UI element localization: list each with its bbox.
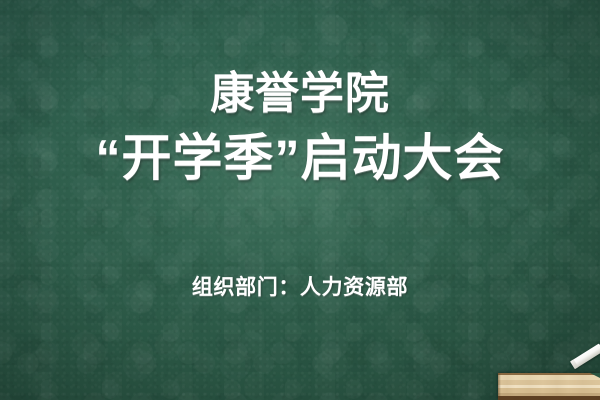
chalkboard-slide: 康誉学院 “开学季”启动大会 组织部门：人力资源部 [0,0,600,400]
slide-title-line-2: “开学季”启动大会 [0,133,600,183]
slide-text-layer: 康誉学院 “开学季”启动大会 组织部门：人力资源部 [0,0,600,400]
chalk-ledge [498,373,600,400]
chalk-ledge-wood-grain [498,373,600,400]
slide-title-line-1: 康誉学院 [0,72,600,116]
chalk-ledge-cut-corner [590,373,600,378]
slide-subtitle-organizing-department: 组织部门：人力资源部 [0,277,600,298]
chalk-ledge-left-bevel [498,373,501,400]
